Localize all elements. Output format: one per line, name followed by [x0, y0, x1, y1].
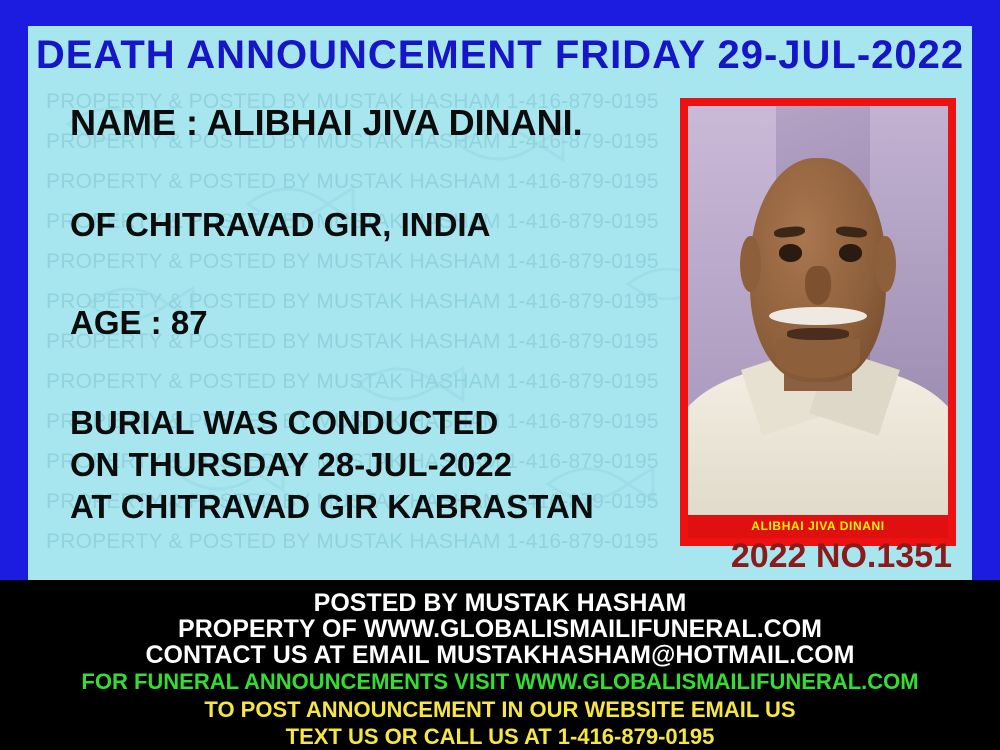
- portrait-eye-left: [779, 244, 802, 261]
- deceased-origin: OF CHITRAVAD GIR, INDIA: [70, 206, 700, 244]
- footer-phone: TEXT US OR CALL US AT 1-416-879-0195: [0, 723, 1000, 750]
- announcement-text: NAME : ALIBHAI JIVA DINANI. OF CHITRAVAD…: [40, 94, 700, 526]
- burial-line-3: AT CHITRAVAD GIR KABRASTAN: [70, 488, 700, 526]
- death-announcement-poster: DEATH ANNOUNCEMENT FRIDAY 29-JUL-2022: [0, 0, 1000, 750]
- footer-visit-website: FOR FUNERAL ANNOUNCEMENTS VISIT WWW.GLOB…: [0, 668, 1000, 696]
- portrait-ear-left: [740, 236, 761, 292]
- page-title: DEATH ANNOUNCEMENT FRIDAY 29-JUL-2022: [36, 33, 964, 78]
- deceased-name: NAME : ALIBHAI JIVA DINANI.: [70, 102, 700, 144]
- footer-posted-by: POSTED BY MUSTAK HASHAM: [0, 580, 1000, 616]
- portrait-moustache: [769, 307, 868, 325]
- portrait-ear-right: [875, 236, 896, 292]
- burial-line-1: BURIAL WAS CONDUCTED: [70, 404, 700, 442]
- portrait-frame: ALIBHAI JIVA DINANI: [680, 98, 956, 546]
- announcement-panel: PROPERTY & POSTED BY MUSTAK HASHAM 1-416…: [28, 84, 972, 580]
- footer-property-of: PROPERTY OF WWW.GLOBALISMAILIFUNERAL.COM: [0, 616, 1000, 642]
- burial-line-2: ON THURSDAY 28-JUL-2022: [70, 446, 700, 484]
- portrait-chin: [776, 339, 859, 378]
- reference-number: 2022 NO.1351: [731, 537, 952, 576]
- portrait-photo: ALIBHAI JIVA DINANI: [688, 106, 948, 538]
- footer-contact-email: CONTACT US AT EMAIL MUSTAKHASHAM@HOTMAIL…: [0, 642, 1000, 668]
- title-bar: DEATH ANNOUNCEMENT FRIDAY 29-JUL-2022: [28, 26, 972, 84]
- portrait-nose: [805, 266, 831, 305]
- portrait-mouth: [787, 328, 849, 339]
- deceased-age: AGE : 87: [70, 304, 700, 342]
- footer-post-announcement: TO POST ANNOUNCEMENT IN OUR WEBSITE EMAI…: [0, 696, 1000, 723]
- footer: POSTED BY MUSTAK HASHAM PROPERTY OF WWW.…: [0, 580, 1000, 750]
- portrait-eye-right: [839, 244, 862, 261]
- portrait-caption: ALIBHAI JIVA DINANI: [688, 515, 948, 538]
